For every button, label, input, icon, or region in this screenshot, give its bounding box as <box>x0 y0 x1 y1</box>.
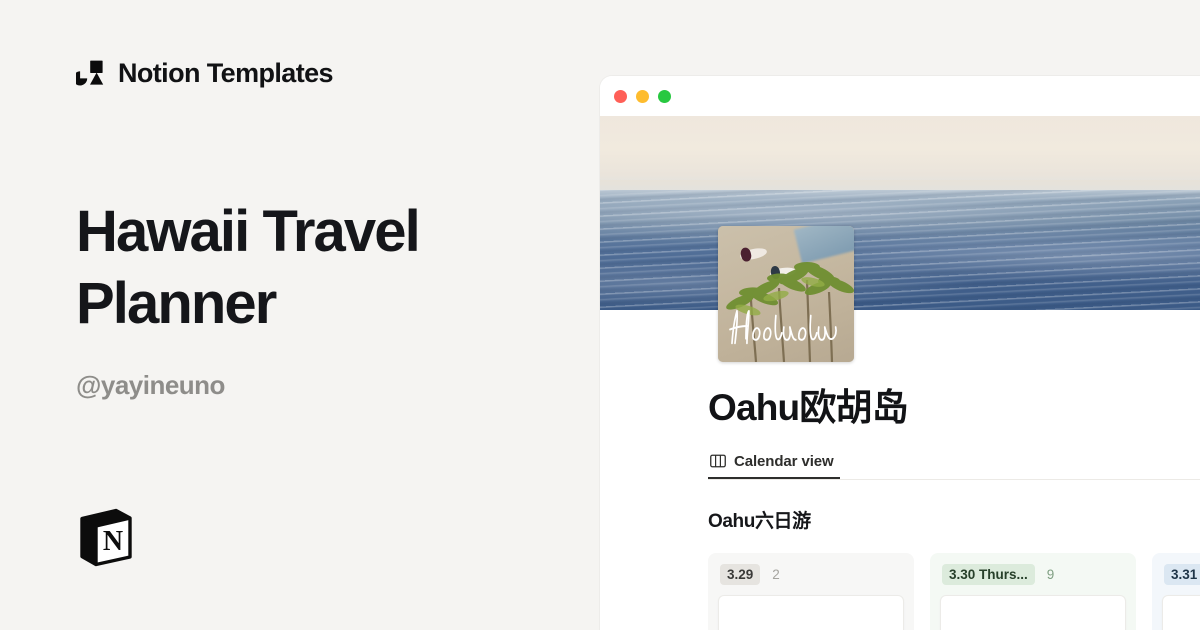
browser-window: Oahu欧胡岛 Calendar view Oahu六日游 <box>600 76 1200 630</box>
board-column[interactable]: 3.31 F <box>1152 553 1200 630</box>
close-window-button[interactable] <box>614 90 627 103</box>
template-promo-page: Notion Templates Hawaii Travel Planner @… <box>0 0 1200 630</box>
board-card[interactable] <box>718 595 904 630</box>
board-card[interactable] <box>1162 595 1200 630</box>
column-header: 3.30 Thurs... 9 <box>940 563 1126 585</box>
board-column[interactable]: 3.29 2 <box>708 553 914 630</box>
brand-lockup: Notion Templates <box>76 58 333 88</box>
column-header: 3.31 F <box>1162 563 1200 585</box>
author-handle: @yayineuno <box>76 370 225 401</box>
page-title: Hawaii Travel Planner <box>76 196 576 339</box>
board-columns-icon <box>710 454 726 468</box>
board-column[interactable]: 3.30 Thurs... 9 <box>930 553 1136 630</box>
tab-calendar-view-label: Calendar view <box>734 453 834 470</box>
brand-name: Notion Templates <box>118 60 333 87</box>
board-card[interactable] <box>940 595 1126 630</box>
column-count: 2 <box>772 567 780 582</box>
left-info-panel: Notion Templates Hawaii Travel Planner @… <box>0 0 600 630</box>
board-columns: 3.29 2 3.30 Thurs... 9 3.31 F <box>708 553 1200 630</box>
cover-ocean <box>600 190 1200 310</box>
notion-cube-logo-icon: N <box>76 505 136 569</box>
svg-text:N: N <box>103 526 123 557</box>
notion-cover-image <box>600 116 1200 310</box>
tab-calendar-view[interactable]: Calendar view <box>708 453 840 479</box>
database-view-tabs: Calendar view <box>708 453 1200 480</box>
notion-templates-shapes-logo-icon <box>76 58 106 88</box>
column-badge[interactable]: 3.29 <box>720 564 760 585</box>
column-badge[interactable]: 3.30 Thurs... <box>942 564 1035 585</box>
window-titlebar <box>600 76 1200 116</box>
notion-page-title[interactable]: Oahu欧胡岛 <box>708 388 1200 429</box>
column-header: 3.29 2 <box>718 563 904 585</box>
database-title[interactable]: Oahu六日游 <box>708 506 1200 533</box>
cover-sky <box>600 116 1200 190</box>
zoom-window-button[interactable] <box>658 90 671 103</box>
notion-page-icon[interactable] <box>718 226 854 362</box>
column-badge[interactable]: 3.31 F <box>1164 564 1200 585</box>
column-count: 9 <box>1047 567 1055 582</box>
page-icon-honolulu-script <box>726 304 846 350</box>
notion-page-body: Oahu欧胡岛 Calendar view Oahu六日游 <box>600 388 1200 630</box>
minimize-window-button[interactable] <box>636 90 649 103</box>
